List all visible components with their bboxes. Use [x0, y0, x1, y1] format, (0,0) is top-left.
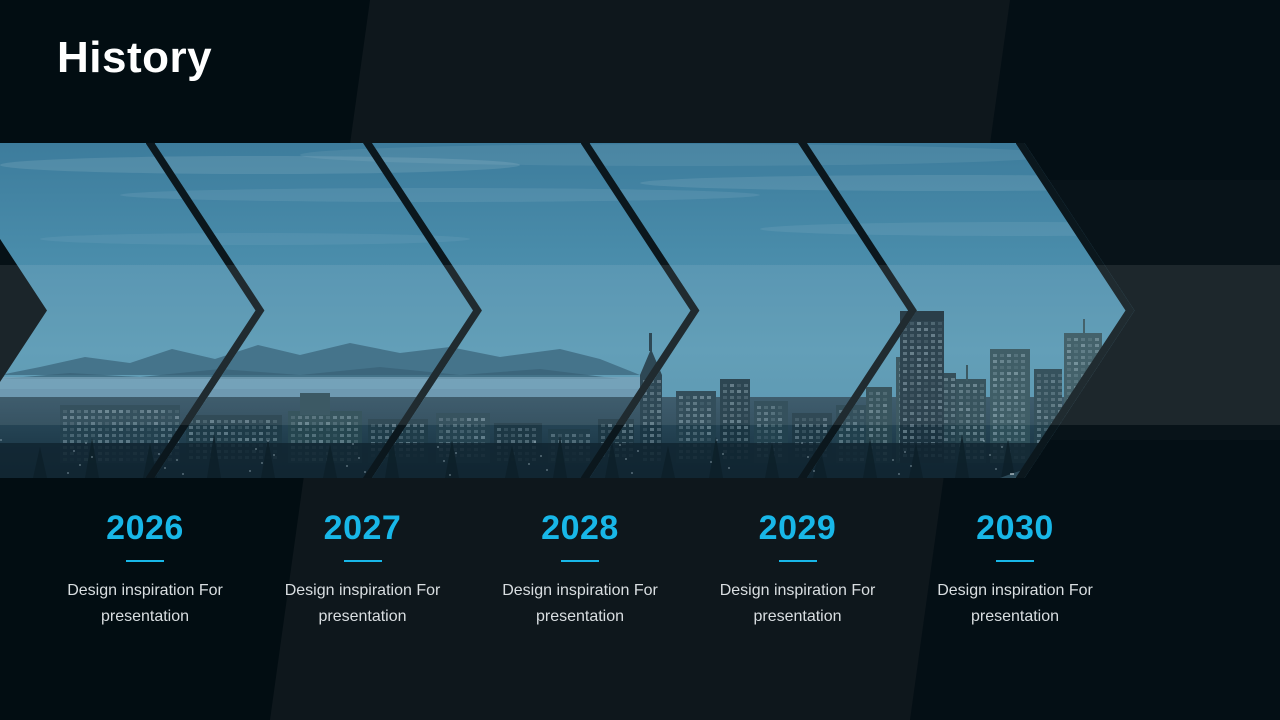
- timeline-divider-rule: [779, 560, 817, 562]
- timeline-description: Design inspiration For presentation: [480, 578, 680, 630]
- timeline-year-label: 2027: [263, 505, 463, 551]
- timeline-description: Design inspiration For presentation: [915, 578, 1115, 630]
- timeline-item-2029[interactable]: 2029Design inspiration For presentation: [698, 505, 898, 630]
- timeline-year-label: 2030: [915, 505, 1115, 551]
- chevron-image-band: [0, 143, 1280, 478]
- timeline-divider-rule: [996, 560, 1034, 562]
- timeline-description: Design inspiration For presentation: [45, 578, 245, 630]
- timeline-captions: 2026Design inspiration For presentation2…: [0, 505, 1280, 685]
- timeline-item-2030[interactable]: 2030Design inspiration For presentation: [915, 505, 1115, 630]
- timeline-year-label: 2029: [698, 505, 898, 551]
- timeline-year-label: 2026: [45, 505, 245, 551]
- timeline-item-2027[interactable]: 2027Design inspiration For presentation: [263, 505, 463, 630]
- timeline-divider-rule: [126, 560, 164, 562]
- timeline-divider-rule: [344, 560, 382, 562]
- timeline-item-2026[interactable]: 2026Design inspiration For presentation: [45, 505, 245, 630]
- timeline-description: Design inspiration For presentation: [698, 578, 898, 630]
- page-title: History: [57, 34, 212, 82]
- timeline-year-label: 2028: [480, 505, 680, 551]
- timeline-description: Design inspiration For presentation: [263, 578, 463, 630]
- timeline-item-2028[interactable]: 2028Design inspiration For presentation: [480, 505, 680, 630]
- slide-canvas: History 2026Design inspiration For prese…: [0, 0, 1280, 720]
- timeline-divider-rule: [561, 560, 599, 562]
